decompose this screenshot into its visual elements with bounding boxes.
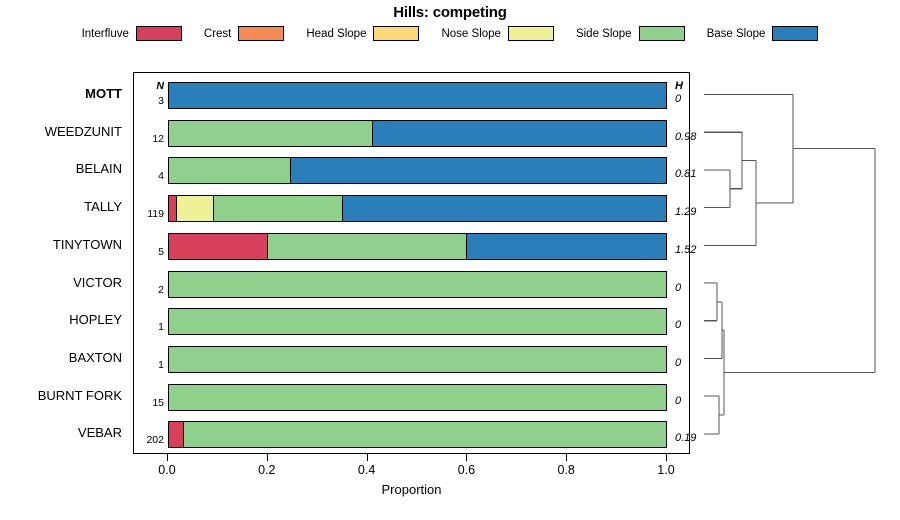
legend-item: Head Slope — [306, 26, 419, 41]
legend-color-swatch — [136, 26, 182, 41]
stacked-bar[interactable] — [168, 271, 667, 298]
bar-row — [134, 421, 691, 448]
legend-item-label: Nose Slope — [441, 28, 500, 40]
legend-color-swatch — [772, 26, 818, 41]
bar-segment[interactable] — [169, 196, 177, 221]
bar-row — [134, 120, 691, 147]
stacked-bar[interactable] — [168, 157, 667, 184]
y-axis-tick-label: VEBAR — [78, 425, 122, 440]
bar-segment[interactable] — [268, 234, 467, 259]
bar-segment[interactable] — [169, 158, 291, 183]
n-value: 5 — [136, 246, 164, 258]
legend-item: Base Slope — [707, 26, 819, 41]
n-value: 1 — [136, 359, 164, 371]
x-axis-tick — [267, 454, 268, 461]
stacked-bar[interactable] — [168, 233, 667, 260]
x-axis-tick — [666, 454, 667, 461]
bar-segment[interactable] — [343, 196, 666, 221]
x-axis-tick — [466, 454, 467, 461]
bar-segment[interactable] — [467, 234, 666, 259]
stacked-bar[interactable] — [168, 82, 667, 109]
y-axis-tick-label: TALLY — [84, 199, 122, 214]
legend-item: Side Slope — [576, 26, 685, 41]
bar-row — [134, 346, 691, 373]
x-axis-tick-label: 0.6 — [458, 463, 475, 477]
x-axis-tick-label: 0.0 — [158, 463, 175, 477]
x-axis-tick-label: 0.4 — [358, 463, 375, 477]
x-axis: 0.00.20.40.60.81.0 — [133, 454, 690, 480]
x-axis-tick — [167, 454, 168, 461]
legend-item-label: Interfluve — [82, 28, 129, 40]
n-value: 4 — [136, 170, 164, 182]
bar-row — [134, 271, 691, 298]
bar-segment[interactable] — [169, 83, 666, 108]
legend-color-swatch — [238, 26, 284, 41]
x-axis-tick-label: 0.8 — [557, 463, 574, 477]
bar-row — [134, 384, 691, 411]
legend-item-label: Side Slope — [576, 28, 632, 40]
y-axis-tick-label: VICTOR — [73, 275, 122, 290]
n-value: 1 — [136, 321, 164, 333]
y-axis-tick-label: MOTT — [85, 86, 122, 101]
bar-row — [134, 82, 691, 109]
y-axis-tick-label: BURNT FORK — [38, 388, 122, 403]
y-axis-tick-label: HOPLEY — [69, 312, 122, 327]
bar-segment[interactable] — [169, 422, 184, 447]
bar-segment[interactable] — [169, 309, 666, 334]
legend-color-swatch — [373, 26, 419, 41]
legend-item-label: Base Slope — [707, 28, 766, 40]
y-axis-tick-label: TINYTOWN — [53, 237, 122, 252]
stacked-bar[interactable] — [168, 195, 667, 222]
bar-row — [134, 157, 691, 184]
legend-item: Interfluve — [82, 26, 182, 41]
x-axis-tick — [566, 454, 567, 461]
page-title: Hills: competing — [0, 4, 900, 21]
y-axis-labels: MOTTWEEDZUNITBELAINTALLYTINYTOWNVICTORHO… — [0, 72, 128, 454]
n-value: 2 — [136, 284, 164, 296]
bar-segment[interactable] — [169, 347, 666, 372]
x-axis-tick — [367, 454, 368, 461]
bar-segment[interactable] — [373, 121, 666, 146]
bar-segment[interactable] — [184, 422, 666, 447]
y-axis-tick-label: BELAIN — [76, 161, 122, 176]
bar-segment[interactable] — [169, 272, 666, 297]
y-axis-tick-label: WEEDZUNIT — [45, 124, 122, 139]
bar-segment[interactable] — [291, 158, 666, 183]
bar-segment[interactable] — [177, 196, 214, 221]
n-value: 15 — [136, 397, 164, 409]
plot-panel: NH30120.9840.811191.2951.522010101502020… — [133, 72, 690, 454]
legend-item-label: Head Slope — [306, 28, 366, 40]
legend: InterfluveCrestHead SlopeNose SlopeSide … — [0, 26, 900, 41]
n-value: 202 — [136, 434, 164, 446]
bar-segment[interactable] — [169, 234, 268, 259]
x-axis-tick-label: 1.0 — [657, 463, 674, 477]
legend-item: Crest — [204, 26, 284, 41]
stacked-bar[interactable] — [168, 346, 667, 373]
bars-layer: NH30120.9840.811191.2951.522010101502020… — [134, 73, 689, 453]
stacked-bar[interactable] — [168, 308, 667, 335]
x-axis-title: Proportion — [133, 482, 690, 497]
stacked-bar[interactable] — [168, 421, 667, 448]
legend-color-swatch — [508, 26, 554, 41]
y-axis-tick-label: BAXTON — [69, 350, 122, 365]
legend-item: Nose Slope — [441, 26, 553, 41]
bar-row — [134, 308, 691, 335]
bar-segment[interactable] — [169, 385, 666, 410]
bar-row — [134, 195, 691, 222]
stacked-bar[interactable] — [168, 384, 667, 411]
bar-segment[interactable] — [169, 121, 373, 146]
n-value: 12 — [136, 133, 164, 145]
bar-row — [134, 233, 691, 260]
n-value: 119 — [136, 208, 164, 220]
stacked-bar[interactable] — [168, 120, 667, 147]
legend-color-swatch — [639, 26, 685, 41]
legend-item-label: Crest — [204, 28, 231, 40]
bar-segment[interactable] — [214, 196, 343, 221]
dendrogram — [690, 72, 900, 454]
x-axis-tick-label: 0.2 — [258, 463, 275, 477]
dendrogram-svg — [690, 72, 900, 454]
n-value: 3 — [136, 95, 164, 107]
